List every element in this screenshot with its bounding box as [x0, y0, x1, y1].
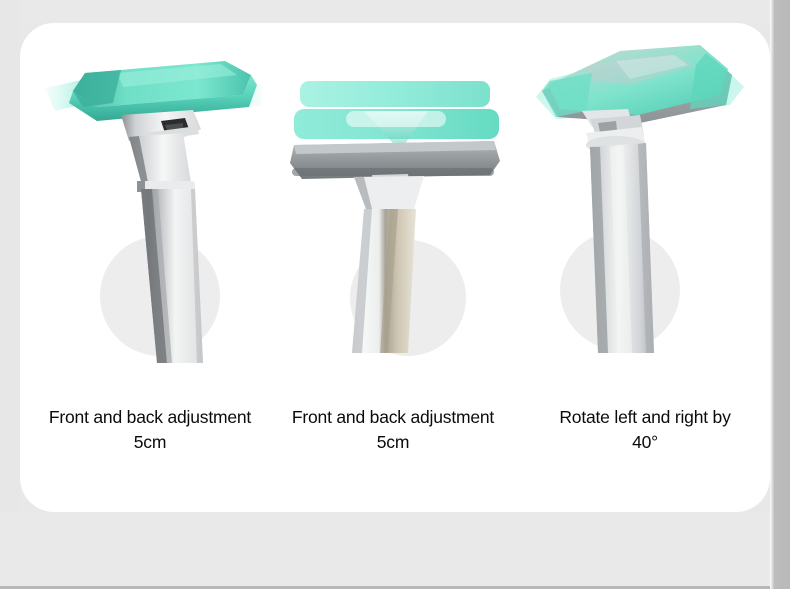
- frame-band-right: [770, 0, 790, 589]
- caption-line-1: Front and back adjustment: [268, 405, 518, 430]
- caption-line-2: 5cm: [268, 430, 518, 455]
- caption-panel-1: Front and back adjustment 5cm: [25, 405, 275, 455]
- frame-band-top: [0, 0, 790, 23]
- panel-front-back-left: Front and back adjustment 5cm: [25, 23, 275, 512]
- panel-front-back-front: Front and back adjustment 5cm: [268, 23, 518, 512]
- caption-line-1: Front and back adjustment: [25, 405, 275, 430]
- caption-panel-2: Front and back adjustment 5cm: [268, 405, 518, 455]
- armrest-front-back-front-view-icon: [268, 23, 518, 403]
- screenshot-root: Front and back adjustment 5cm: [0, 0, 790, 589]
- product-image-card: Front and back adjustment 5cm: [20, 23, 770, 512]
- armrest-front-back-side-view-icon: [25, 33, 275, 413]
- frame-band-bottom: [0, 512, 790, 589]
- frame-band-left: [0, 0, 20, 589]
- panel-rotate: Rotate left and right by 40°: [520, 23, 770, 512]
- caption-line-1: Rotate left and right by: [520, 405, 770, 430]
- caption-panel-3: Rotate left and right by 40°: [520, 405, 770, 455]
- caption-line-2: 40°: [520, 430, 770, 455]
- armrest-rotation-top-view-icon: [520, 23, 770, 403]
- caption-line-2: 5cm: [25, 430, 275, 455]
